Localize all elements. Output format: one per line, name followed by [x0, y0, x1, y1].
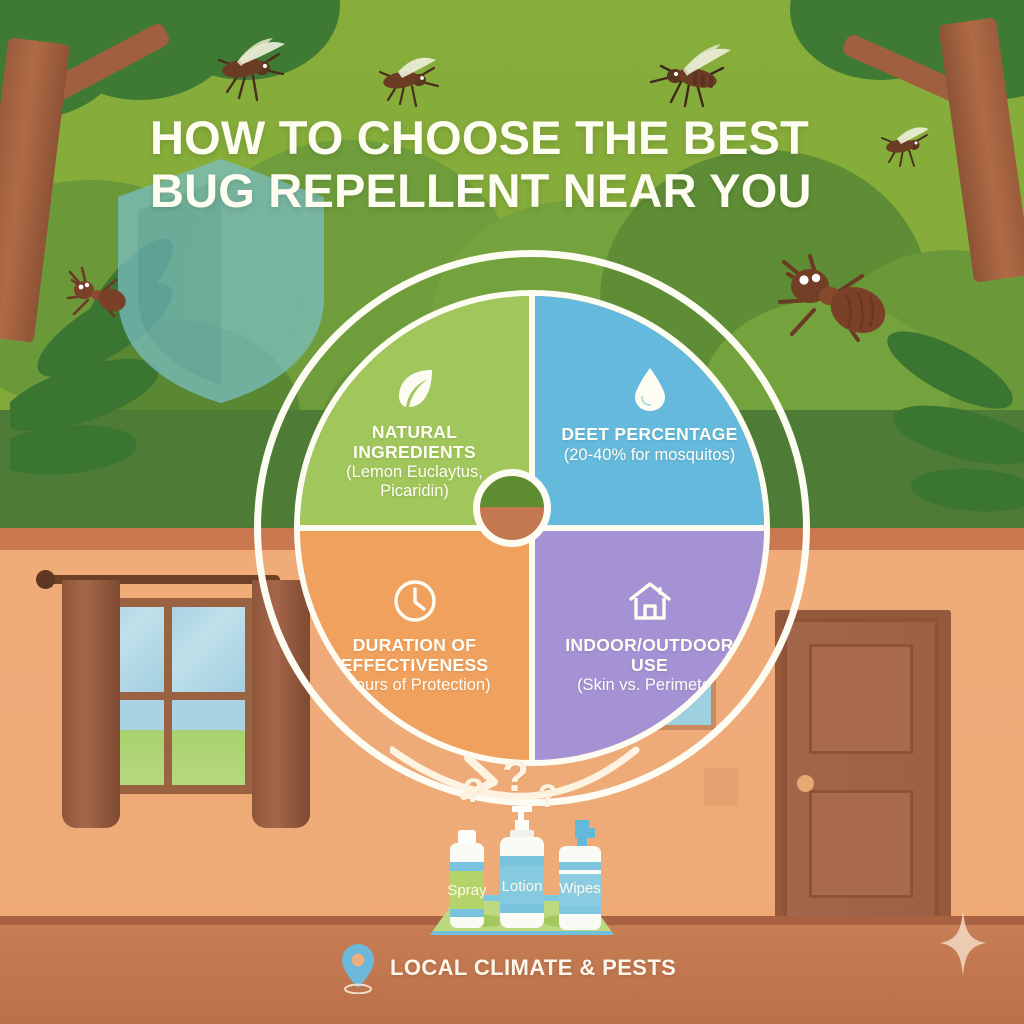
curtain-left [62, 580, 120, 828]
footer-banner: Local Climate & Pests [340, 942, 676, 994]
leaf-icon [394, 366, 436, 410]
wall-square [704, 768, 738, 806]
page-title: How to Choose the Best Bug Repellent Nea… [150, 112, 910, 217]
mosquito-icon [370, 48, 450, 114]
quadrant-title: DEET Percentage [561, 425, 739, 445]
door-panel-upper [809, 644, 913, 754]
quadrant-title: Natural Ingredients [326, 423, 504, 462]
wheel-quadrant-indoor-outdoor-use[interactable]: Indoor/Outdoor Use (Skin vs. Perimeter) [532, 528, 764, 760]
water-drop-icon [633, 366, 667, 412]
mosquito-icon [205, 30, 301, 110]
house-icon [627, 579, 673, 623]
product-bottle-wipes[interactable]: Wipes [553, 818, 607, 930]
mosquito-icon [645, 40, 737, 116]
quadrant-title: Duration of Effectiveness [326, 636, 504, 675]
footer-label: Local Climate & Pests [390, 955, 676, 981]
ant-icon [58, 262, 132, 324]
window-pane [172, 607, 245, 692]
wheel-quadrant-duration-of-effectiveness[interactable]: Duration of Effectiveness (Hours of Prot… [300, 528, 532, 760]
sparkle-icon [940, 910, 986, 976]
question-mark-large-center: ? [502, 752, 529, 802]
quadrant-title: Indoor/Outdoor Use [561, 636, 739, 675]
location-pin-icon [340, 942, 376, 994]
quadrant-subtitle: (Skin vs. Perimeter) [561, 676, 739, 695]
infographic-poster: How to Choose the Best Bug Repellent Nea… [0, 0, 1024, 1024]
curtain-rod-knob [36, 570, 55, 589]
product-label-wipes: Wipes [553, 880, 607, 897]
window-pane [172, 700, 245, 785]
clock-icon [393, 579, 437, 623]
quadrant-subtitle: (Hours of Protection) [326, 676, 504, 695]
wheel-quadrant-deet-percentage[interactable]: DEET Percentage (20-40% for mosquitos) [532, 296, 764, 528]
product-label-lotion: Lotion [494, 878, 550, 895]
wheel-hub [473, 469, 551, 547]
product-bottle-lotion[interactable]: Lotion [494, 800, 550, 928]
title-line-1: How to Choose the Best [150, 112, 910, 165]
door[interactable] [783, 618, 939, 922]
product-label-spray: Spray [443, 882, 491, 899]
question-mark-small-left: ? [463, 772, 484, 811]
title-line-2: Bug Repellent Near You [150, 165, 910, 218]
door-panel-lower [809, 790, 913, 898]
door-knob[interactable] [797, 775, 814, 792]
ant-icon [762, 248, 896, 360]
quadrant-subtitle: (20-40% for mosquitos) [561, 446, 739, 465]
product-bottle-spray[interactable]: Spray [443, 830, 491, 928]
